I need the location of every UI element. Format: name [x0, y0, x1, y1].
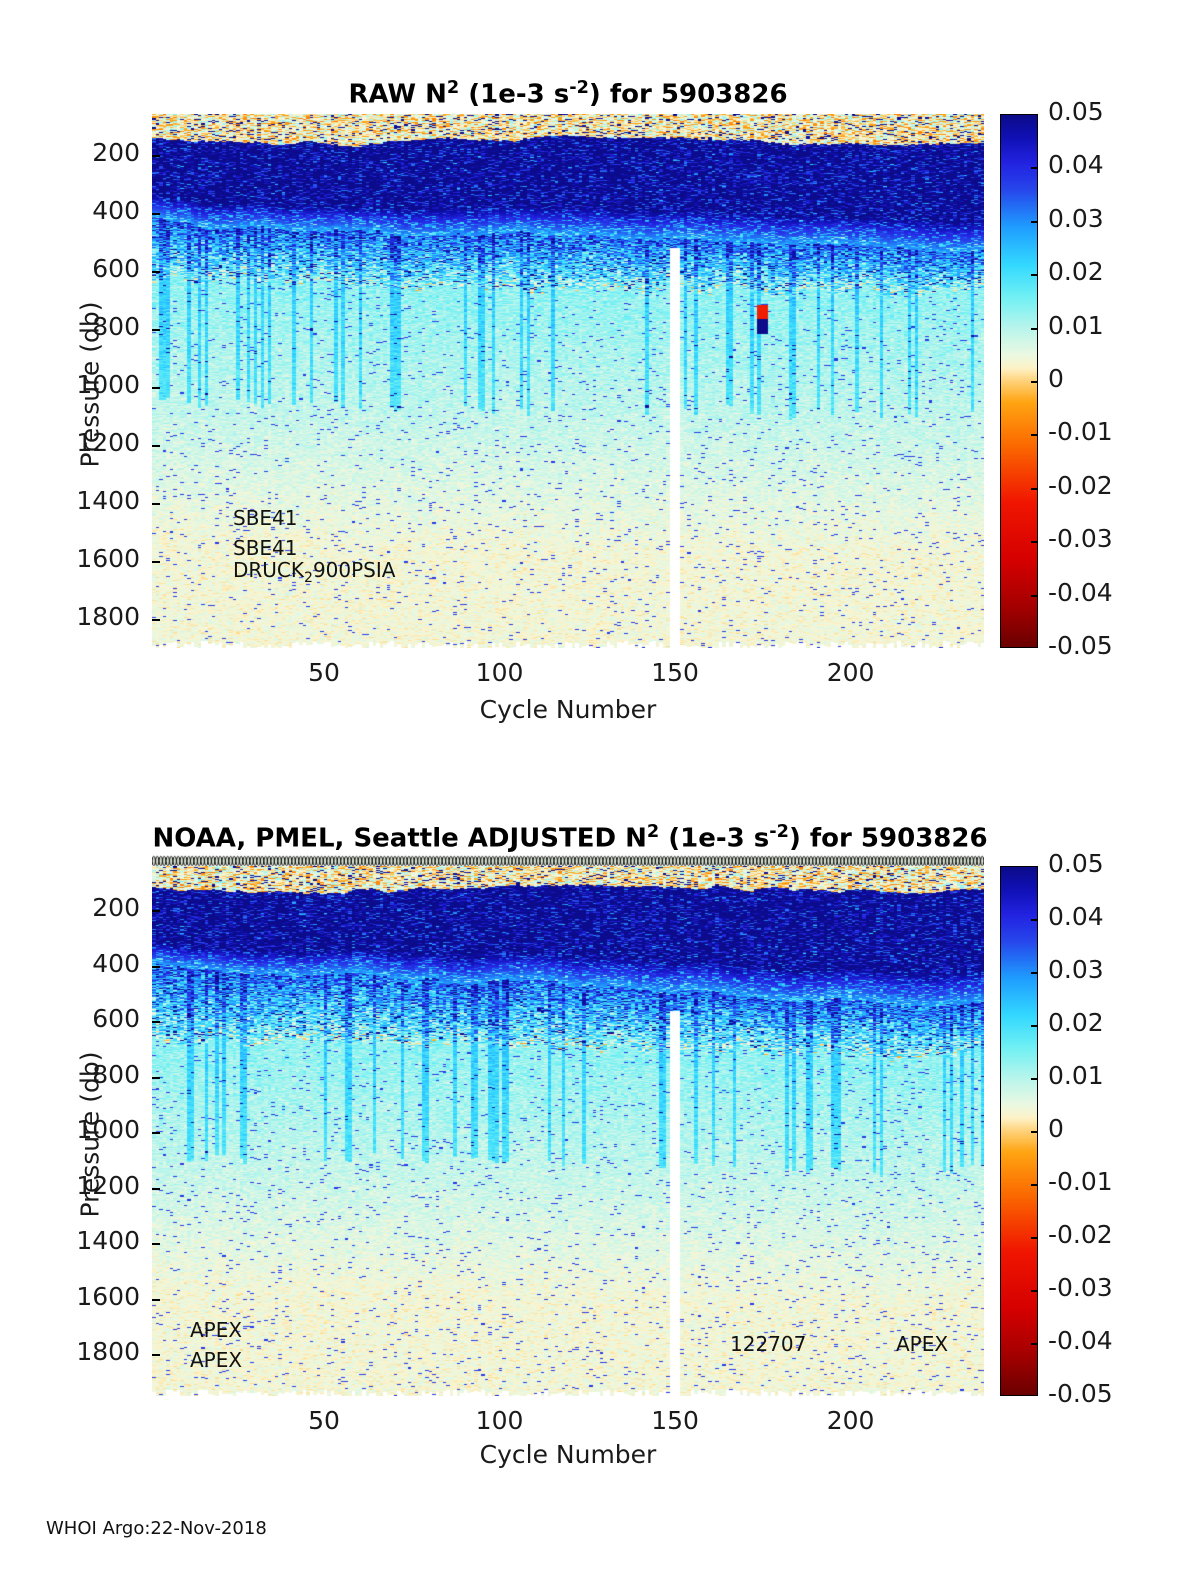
panel-raw-title-prefix: RAW N — [348, 80, 446, 110]
y-tick-label: 1400 — [2, 1226, 140, 1255]
y-tick-mark — [152, 387, 160, 389]
panel-raw-title-sup2: -2 — [569, 78, 589, 98]
y-tick-label: 1600 — [2, 1282, 140, 1311]
panel-adjusted-title-prefix: NOAA, PMEL, Seattle ADJUSTED N — [152, 824, 646, 854]
colorbar-tick-label: 0.04 — [1048, 150, 1104, 179]
colorbar-tick-mark — [1031, 1131, 1038, 1133]
y-tick-label: 1200 — [2, 1171, 140, 1200]
colorbar-tick-label: -0.03 — [1048, 524, 1113, 553]
y-tick-label: 1000 — [2, 1115, 140, 1144]
y-tick-label: 800 — [2, 1060, 140, 1089]
y-tick-label: 600 — [2, 254, 140, 283]
panel-adjusted-title-suffix: ) for 5903826 — [789, 824, 988, 854]
y-tick-mark — [152, 1299, 160, 1301]
y-tick-label: 200 — [2, 893, 140, 922]
y-tick-mark — [152, 1188, 160, 1190]
colorbar-tick-mark — [1031, 1343, 1038, 1345]
panel-adjusted-title-mid: (1e-3 s — [659, 824, 769, 854]
colorbar-tick-mark — [1031, 381, 1038, 383]
colorbar-tick-label: 0.05 — [1048, 97, 1104, 126]
panel-adjusted-title-sup1: 2 — [647, 822, 659, 842]
adjusted-annotation-apex-a: APEX — [190, 1318, 242, 1342]
colorbar-tick-label: 0 — [1048, 364, 1064, 393]
colorbar-tick-mark — [1031, 919, 1038, 921]
panel-raw-title-mid: (1e-3 s — [459, 80, 569, 110]
colorbar-tick-label: -0.05 — [1048, 631, 1113, 660]
raw-annotation-druck-sub: 2 — [304, 570, 313, 586]
y-tick-mark — [152, 503, 160, 505]
y-tick-mark — [152, 619, 160, 621]
y-tick-mark — [152, 329, 160, 331]
colorbar-tick-mark — [1031, 1025, 1038, 1027]
y-tick-mark — [152, 1077, 160, 1079]
panel-adjusted-title-sup2: -2 — [769, 822, 789, 842]
adjusted-annotation-serial: 122707 — [730, 1332, 806, 1356]
colorbar-tick-label: 0 — [1048, 1114, 1064, 1143]
panel-raw-title: RAW N2 (1e-3 s-2) for 5903826 — [152, 78, 984, 110]
raw-x-axis-label: Cycle Number — [152, 695, 984, 724]
x-tick-label: 200 — [801, 1406, 901, 1435]
colorbar-tick-label: -0.01 — [1048, 417, 1113, 446]
colorbar-tick-label: -0.04 — [1048, 578, 1113, 607]
colorbar-tick-label: -0.03 — [1048, 1273, 1113, 1302]
colorbar-tick-mark — [1031, 972, 1038, 974]
y-tick-mark — [152, 213, 160, 215]
colorbar-tick-mark — [1031, 274, 1038, 276]
colorbar-tick-label: -0.02 — [1048, 1220, 1113, 1249]
y-tick-label: 1400 — [2, 486, 140, 515]
colorbar-tick-mark — [1031, 1237, 1038, 1239]
colorbar-tick-label: 0.01 — [1048, 1061, 1104, 1090]
x-tick-label: 150 — [625, 1406, 725, 1435]
y-tick-label: 400 — [2, 949, 140, 978]
raw-annotation-druck-psia: 900PSIA — [313, 558, 396, 582]
y-tick-label: 200 — [2, 138, 140, 167]
colorbar-tick-label: 0.02 — [1048, 257, 1104, 286]
x-tick-label: 100 — [450, 1406, 550, 1435]
colorbar-tick-mark — [1031, 221, 1038, 223]
colorbar-tick-mark — [1031, 328, 1038, 330]
colorbar-tick-label: 0.03 — [1048, 955, 1104, 984]
y-tick-label: 1000 — [2, 370, 140, 399]
adjusted-annotation-apex-c: APEX — [896, 1332, 948, 1356]
y-tick-label: 600 — [2, 1004, 140, 1033]
adjusted-x-axis-label: Cycle Number — [152, 1440, 984, 1469]
y-tick-mark — [152, 445, 160, 447]
figure-footer: WHOI Argo:22-Nov-2018 — [46, 1518, 267, 1539]
colorbar-tick-label: -0.01 — [1048, 1167, 1113, 1196]
y-tick-mark — [152, 561, 160, 563]
colorbar-tick-mark — [1031, 595, 1038, 597]
y-tick-label: 400 — [2, 196, 140, 225]
colorbar-tick-label: 0.02 — [1048, 1008, 1104, 1037]
y-tick-mark — [152, 910, 160, 912]
raw-annotation-sbe41-a: SBE41 — [233, 506, 298, 530]
x-tick-label: 50 — [274, 1406, 374, 1435]
y-tick-label: 1600 — [2, 544, 140, 573]
y-tick-label: 800 — [2, 312, 140, 341]
colorbar-tick-mark — [1031, 1078, 1038, 1080]
y-tick-mark — [152, 1132, 160, 1134]
colorbar-tick-mark — [1031, 1290, 1038, 1292]
adjusted-annotation-apex-b: APEX — [190, 1348, 242, 1372]
panel-adjusted-title: NOAA, PMEL, Seattle ADJUSTED N2 (1e-3 s-… — [100, 822, 1040, 854]
x-tick-label: 100 — [450, 658, 550, 687]
x-tick-label: 50 — [274, 658, 374, 687]
colorbar-tick-mark — [1031, 1184, 1038, 1186]
panel-raw-title-sup1: 2 — [447, 78, 459, 98]
adjusted-heatmap-canvas — [152, 866, 984, 1396]
colorbar-tick-mark — [1031, 434, 1038, 436]
colorbar-tick-mark — [1031, 488, 1038, 490]
colorbar-tick-mark — [1031, 541, 1038, 543]
panel-raw-title-suffix: ) for 5903826 — [589, 80, 788, 110]
y-tick-label: 1800 — [2, 1337, 140, 1366]
y-tick-mark — [152, 1021, 160, 1023]
colorbar-tick-label: 0.03 — [1048, 204, 1104, 233]
y-tick-mark — [152, 271, 160, 273]
colorbar-tick-label: 0.05 — [1048, 849, 1104, 878]
colorbar-tick-label: -0.04 — [1048, 1326, 1113, 1355]
raw-annotation-druck: DRUCK2900PSIA — [233, 558, 395, 586]
x-tick-label: 200 — [801, 658, 901, 687]
y-tick-label: 1200 — [2, 428, 140, 457]
colorbar-tick-label: 0.01 — [1048, 311, 1104, 340]
raw-annotation-druck-name: DRUCK — [233, 558, 304, 582]
colorbar-tick-label: -0.05 — [1048, 1379, 1113, 1408]
y-tick-label: 1800 — [2, 602, 140, 631]
raw-annotation-sbe41-b: SBE41 — [233, 536, 298, 560]
y-tick-mark — [152, 966, 160, 968]
y-tick-mark — [152, 1243, 160, 1245]
y-tick-mark — [152, 1354, 160, 1356]
colorbar-tick-mark — [1031, 167, 1038, 169]
colorbar-tick-label: 0.04 — [1048, 902, 1104, 931]
adjusted-heatmap-plot[interactable] — [152, 866, 984, 1396]
colorbar-tick-label: -0.02 — [1048, 471, 1113, 500]
y-tick-mark — [152, 155, 160, 157]
x-tick-label: 150 — [625, 658, 725, 687]
